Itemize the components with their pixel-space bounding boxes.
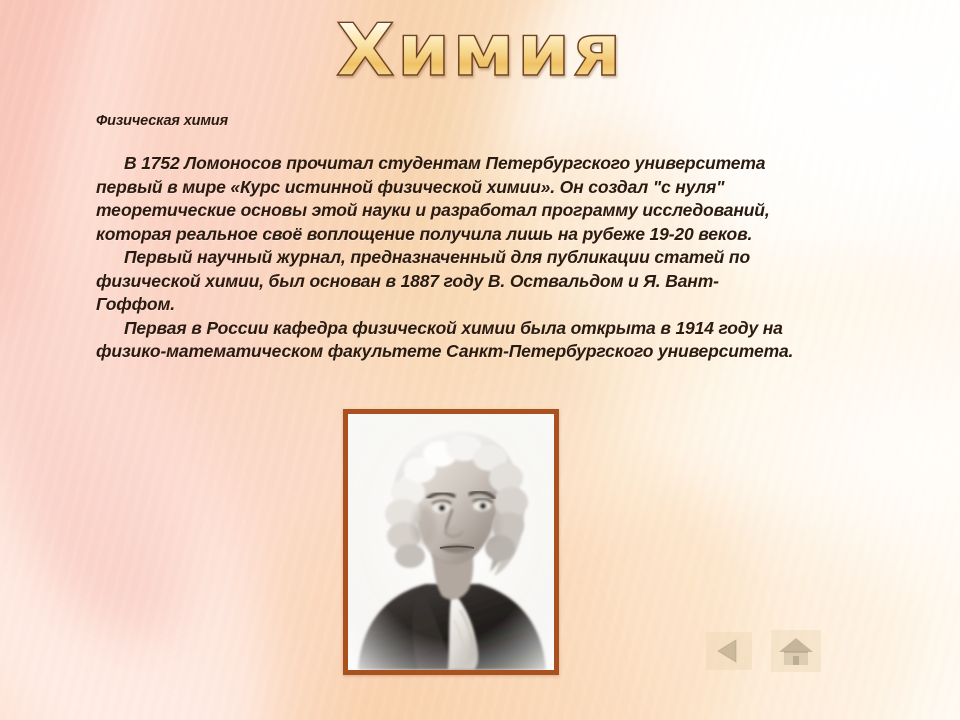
- slide-body: Физическая химия В 1752 Ломоносов прочит…: [96, 112, 796, 364]
- presentation-slide: Химия Физическая химия В 1752 Ломоносов …: [0, 0, 960, 720]
- home-icon: [771, 630, 821, 672]
- paragraph-2: Первый научный журнал, предназначенный д…: [96, 246, 796, 317]
- triangle-left-icon: [706, 632, 752, 670]
- portrait-image-lomonosov: [348, 414, 554, 670]
- back-button[interactable]: [706, 632, 752, 670]
- paragraph-3: Первая в России кафедра физической химии…: [96, 317, 796, 364]
- paragraph-1: В 1752 Ломоносов прочитал студентам Пете…: [96, 152, 796, 246]
- home-button[interactable]: [771, 630, 821, 672]
- portrait-frame: [343, 409, 559, 675]
- section-subheading: Физическая химия: [96, 112, 796, 130]
